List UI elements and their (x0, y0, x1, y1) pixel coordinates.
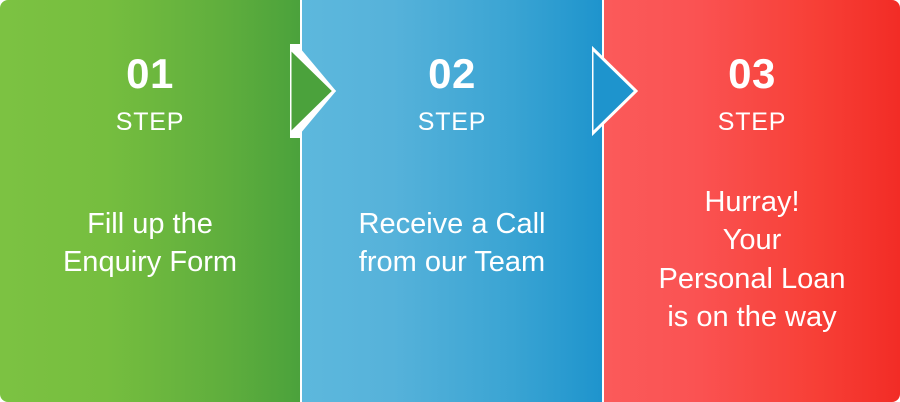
step-description-line: is on the way (658, 298, 845, 336)
step-description-01: Fill up the Enquiry Form (49, 205, 251, 282)
step-number-03: 03 (728, 53, 776, 95)
process-steps-infographic: 01 STEP Fill up the Enquiry Form 02 STEP… (0, 0, 900, 402)
step-word-03: STEP (718, 110, 787, 135)
step-word-02: STEP (418, 110, 487, 135)
step-description-03: Hurray! Your Personal Loan is on the way (644, 183, 859, 336)
step-word-01: STEP (116, 110, 185, 135)
step-description-line: Receive a Call (359, 205, 546, 243)
step-panel-01[interactable]: 01 STEP Fill up the Enquiry Form (0, 0, 300, 402)
step-description-02: Receive a Call from our Team (345, 205, 560, 282)
step-description-line: Fill up the (63, 205, 237, 243)
step-number-01: 01 (126, 53, 174, 95)
step-panel-03[interactable]: 03 STEP Hurray! Your Personal Loan is on… (604, 0, 900, 402)
step-description-line: from our Team (359, 243, 546, 281)
step-number-02: 02 (428, 53, 476, 95)
step-description-line: Hurray! (658, 183, 845, 221)
step-description-line: Enquiry Form (63, 243, 237, 281)
step-description-line: Your (658, 221, 845, 259)
step-description-line: Personal Loan (658, 260, 845, 298)
step-panel-02[interactable]: 02 STEP Receive a Call from our Team (302, 0, 602, 402)
